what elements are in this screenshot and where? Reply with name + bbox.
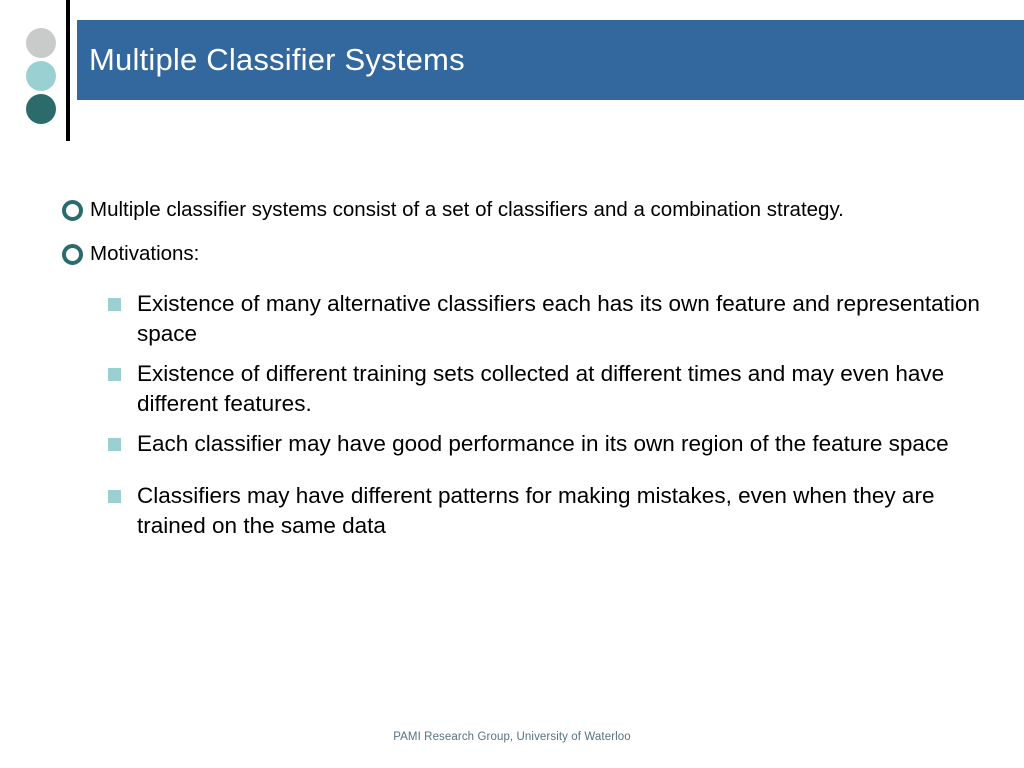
square-bullet-icon [108, 298, 121, 311]
square-bullet-icon [108, 368, 121, 381]
bullet-item-level2: Existence of many alternative classifier… [0, 289, 1024, 349]
header-decoration [24, 28, 68, 124]
bullet-item-level1: Motivations: [0, 240, 1024, 278]
square-bullet-icon [108, 490, 121, 503]
gray-circle-icon [26, 28, 56, 58]
slide-canvas: Multiple Classifier Systems Multiple cla… [0, 0, 1024, 768]
slide-body: Multiple classifier systems consist of a… [0, 196, 1024, 541]
vertical-rule [66, 0, 70, 141]
bullet-text: Existence of different training sets col… [137, 359, 984, 419]
bullet-text: Existence of many alternative classifier… [137, 289, 984, 349]
dark-teal-circle-icon [26, 94, 56, 124]
ring-bullet-icon [62, 244, 83, 265]
bullet-text: Multiple classifier systems consist of a… [90, 196, 904, 223]
bullet-text: Classifiers may have different patterns … [137, 481, 984, 541]
slide-title: Multiple Classifier Systems [77, 43, 465, 77]
light-teal-circle-icon [26, 61, 56, 91]
ring-bullet-icon [62, 200, 83, 221]
bullet-item-level1: Multiple classifier systems consist of a… [0, 196, 1024, 234]
square-bullet-icon [108, 438, 121, 451]
slide-footer: PAMI Research Group, University of Water… [0, 731, 1024, 743]
bullet-item-level2: Existence of different training sets col… [0, 359, 1024, 419]
bullet-text: Each classifier may have good performanc… [137, 429, 984, 459]
bullet-text: Motivations: [90, 240, 904, 267]
slide-title-band: Multiple Classifier Systems [77, 20, 1024, 100]
bullet-item-level2: Each classifier may have good performanc… [0, 429, 1024, 471]
bullet-item-level2: Classifiers may have different patterns … [0, 481, 1024, 541]
